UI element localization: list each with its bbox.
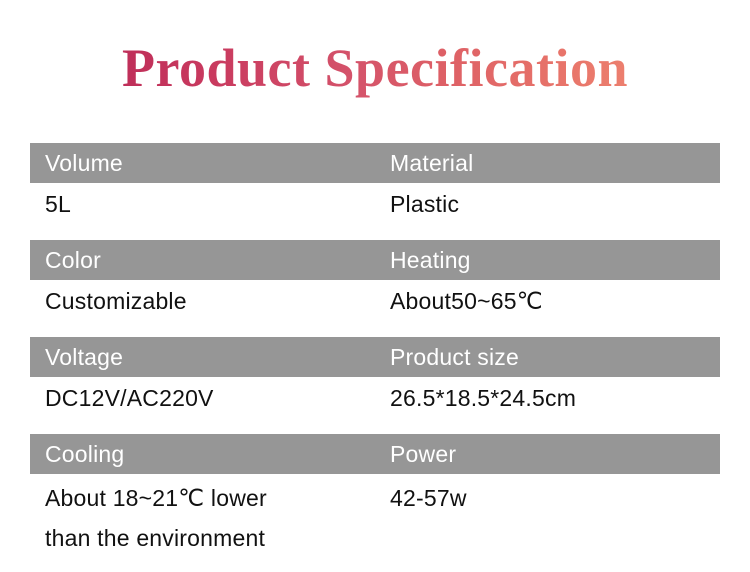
table-row-voltage-product-size: DC12V/AC220V 26.5*18.5*24.5cm [30,377,720,434]
product-specification-page: Product Specification Volume Material 5L… [0,0,750,572]
header-cell-color: Color [30,240,375,280]
table-row-volume-material: 5L Plastic [30,183,720,240]
value-cell-color: Customizable [30,280,375,337]
header-cell-cooling: Cooling [30,434,375,474]
table-header-row-color-heating: Color Heating [30,240,720,280]
header-cell-heating: Heating [375,240,720,280]
value-cell-cooling-line-2: than the environment [45,518,375,558]
table-header-row-cooling-power: Cooling Power [30,434,720,474]
value-cell-material: Plastic [375,183,720,240]
value-cell-product-size: 26.5*18.5*24.5cm [375,377,720,434]
table-row-cooling-power: About 18~21℃ lower than the environment … [30,474,720,565]
value-cell-cooling: About 18~21℃ lower than the environment [30,474,375,565]
header-cell-product-size: Product size [375,337,720,377]
value-cell-volume: 5L [30,183,375,240]
table-row-color-heating: Customizable About50~65℃ [30,280,720,337]
table-header-row-voltage-product-size: Voltage Product size [30,337,720,377]
header-cell-material: Material [375,143,720,183]
value-cell-power: 42-57w [375,474,720,565]
value-cell-cooling-text: About 18~21℃ lower than the environment [45,478,375,558]
page-title-container: Product Specification [0,38,750,98]
header-cell-power: Power [375,434,720,474]
specification-table: Volume Material 5L Plastic Color Heating… [30,143,720,565]
header-cell-volume: Volume [30,143,375,183]
value-cell-heating: About50~65℃ [375,280,720,337]
value-cell-voltage: DC12V/AC220V [30,377,375,434]
page-title: Product Specification [122,38,628,98]
header-cell-voltage: Voltage [30,337,375,377]
value-cell-cooling-line-1: About 18~21℃ lower [45,478,375,518]
table-header-row-volume-material: Volume Material [30,143,720,183]
